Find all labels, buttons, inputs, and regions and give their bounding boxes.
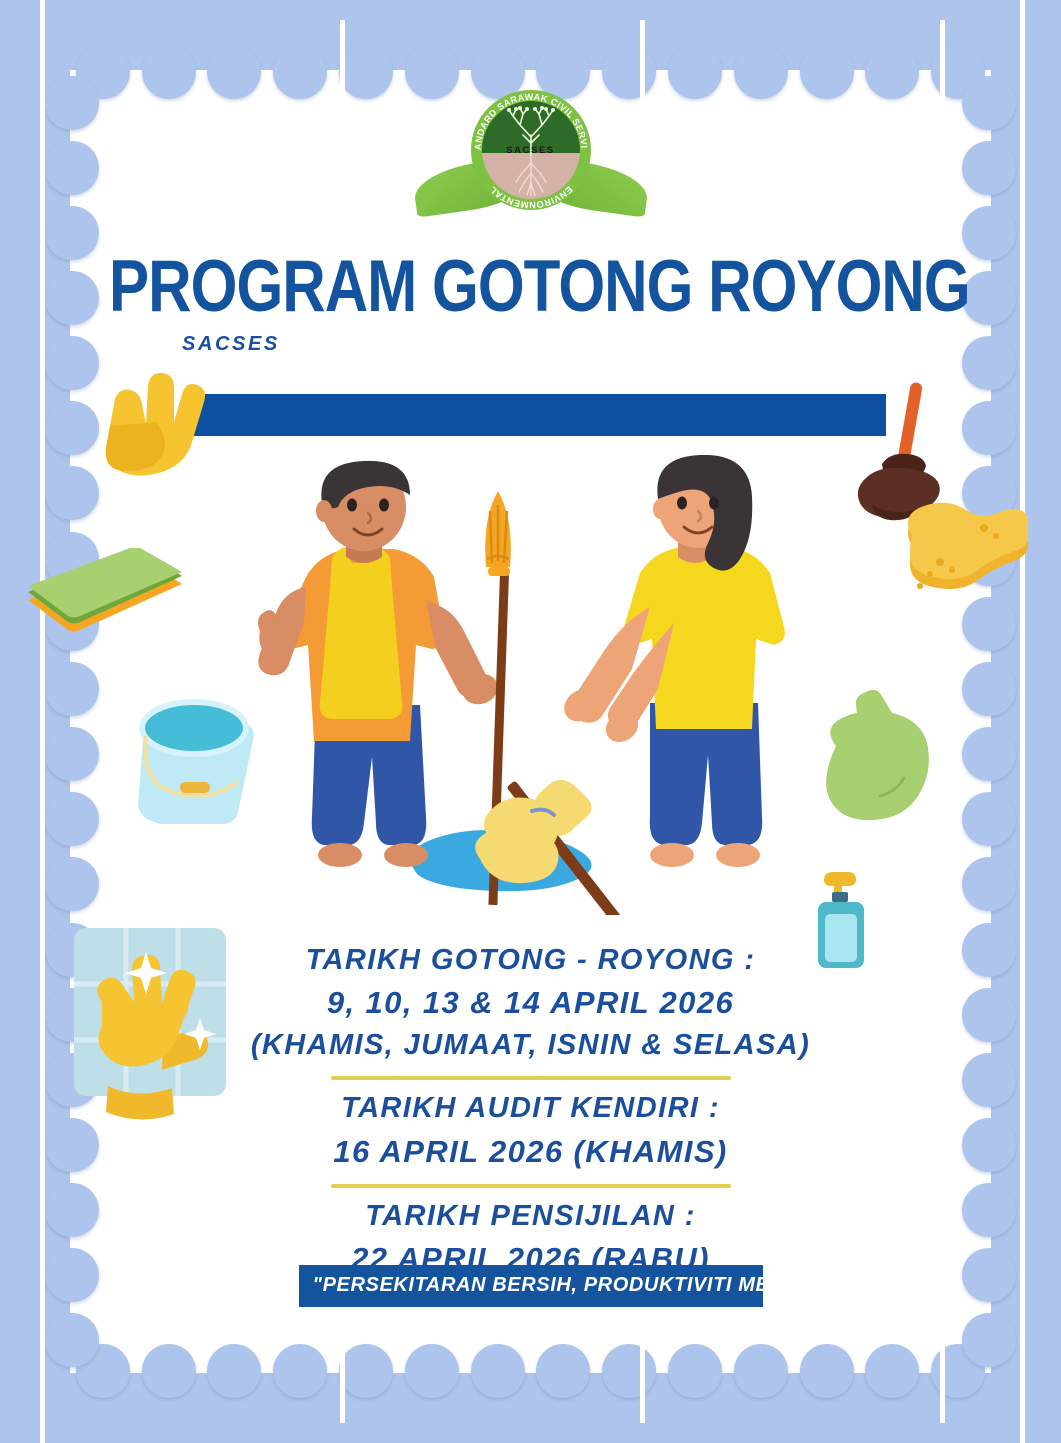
scallop-lobe (45, 857, 99, 911)
scallop-lobe (962, 857, 1016, 911)
divider-rule-2 (331, 1184, 731, 1188)
scallop-lobe (45, 206, 99, 260)
scallop-lobe (962, 988, 1016, 1042)
scallop-lobe (45, 141, 99, 195)
blue-accent-bar (182, 394, 886, 436)
scallop-lobe (45, 76, 99, 130)
scallop-lobe (962, 923, 1016, 977)
scallop-lobe (962, 727, 1016, 781)
scallop-lobe (962, 1118, 1016, 1172)
cleaning-illustration (258, 455, 798, 915)
divider-rule-1 (331, 1076, 731, 1080)
pensijilan-label: TARIKH PENSIJILAN : (96, 1196, 965, 1237)
scallop-lobe (45, 271, 99, 325)
blue-bucket-icon (118, 690, 264, 824)
boy-with-broom (258, 461, 502, 867)
slogan-banner: "PERSEKITARAN BERSIH, PRODUKTIVITI MENIN… (299, 1265, 763, 1307)
page-title: PROGRAM GOTONG ROYONG (109, 245, 952, 329)
sacses-logo: SACSES STANDARD SARAWAK CIVIL SERVICE EN… (416, 88, 646, 228)
scallop-lobe (962, 206, 1016, 260)
yellow-gloves-icon (88, 358, 208, 476)
border-edge-line (1020, 0, 1025, 1443)
yellow-sponge-icon (890, 500, 1028, 610)
girl-with-mop (558, 455, 785, 867)
page-subtitle: SACSES (182, 333, 280, 356)
scallop-lobe (962, 1183, 1016, 1237)
scallop-lobe (962, 141, 1016, 195)
scallop-lobe (45, 1248, 99, 1302)
poster-root: SACSES STANDARD SARAWAK CIVIL SERVICE EN… (0, 0, 1061, 1443)
scallop-lobe (962, 336, 1016, 390)
border-edge-line (40, 0, 45, 1443)
scallop-lobe (45, 727, 99, 781)
scallop-lobe (962, 1248, 1016, 1302)
tiled-gloves-icon (68, 922, 248, 1152)
logo-circle: SACSES STANDARD SARAWAK CIVIL SERVICE EN… (471, 90, 591, 210)
scallop-lobe (962, 401, 1016, 455)
logo-ring-text-top: STANDARD SARAWAK CIVIL SERVICE (471, 90, 589, 150)
scallop-lobe (45, 662, 99, 716)
logo-ring-text-bottom: ENVIRONMENTAL (487, 184, 574, 210)
logo-center-text: SACSES (482, 145, 580, 156)
slogan-text: "PERSEKITARAN BERSIH, PRODUKTIVITI MENIN… (299, 1265, 763, 1297)
trash-bag-icon (814, 688, 936, 830)
scallop-lobe (45, 792, 99, 846)
scallop-lobe (962, 76, 1016, 130)
green-sponge-icon (22, 548, 188, 640)
soap-dispenser-icon (808, 862, 878, 974)
scallop-lobe (962, 662, 1016, 716)
scallop-lobe (45, 1183, 99, 1237)
scallop-lobe (962, 792, 1016, 846)
scallop-lobe (962, 271, 1016, 325)
scallop-lobe (962, 1053, 1016, 1107)
